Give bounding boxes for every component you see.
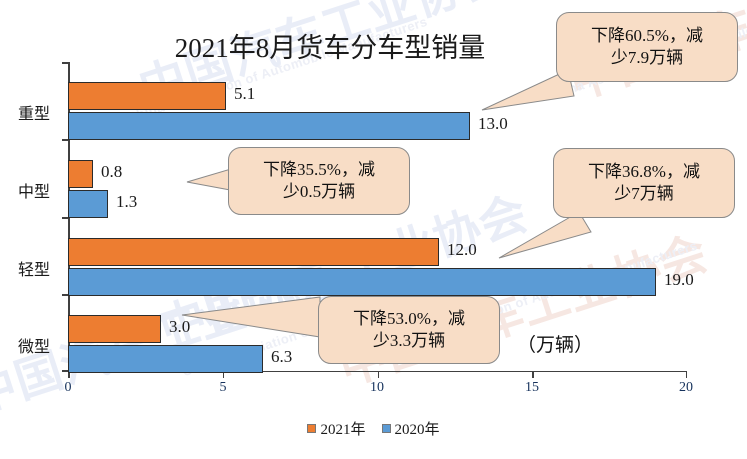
- bar-value-2020-medium: 1.3: [116, 192, 137, 212]
- y-axis-category-label: 轻型: [6, 256, 62, 280]
- y-axis-category-label: 微型: [6, 333, 62, 357]
- callout-tail-icon: [495, 210, 605, 265]
- bar-value-2020-mini: 6.3: [271, 347, 292, 367]
- x-axis-tick: [378, 372, 380, 378]
- x-axis-tick: [532, 372, 534, 378]
- legend-item-2020[interactable]: 2020年: [382, 418, 440, 439]
- x-axis-tick-label: 10: [370, 380, 384, 396]
- legend-swatch-icon: [307, 424, 316, 433]
- callout-tail-icon: [180, 295, 340, 350]
- legend: 2021年 2020年: [0, 418, 747, 439]
- legend-item-2021[interactable]: 2021年: [307, 418, 365, 439]
- x-axis-tick-label: 20: [679, 380, 693, 396]
- bar-value-2021-light: 12.0: [447, 240, 477, 260]
- annotation-light-line2: 少7万辆: [614, 184, 674, 203]
- annotation-box-mini[interactable]: 下降53.0%，减 少3.3万辆: [318, 296, 500, 364]
- bar-2021-heavy[interactable]: [68, 82, 226, 110]
- legend-label-2020: 2020年: [395, 418, 440, 439]
- annotation-mini-line1: 下降53.0%，减: [353, 309, 465, 328]
- y-axis-category-label: 中型: [6, 178, 62, 202]
- bar-2020-medium[interactable]: [68, 190, 108, 218]
- x-axis-tick-label: 0: [65, 380, 72, 396]
- bar-value-2020-light: 19.0: [664, 270, 694, 290]
- annotation-medium-line2: 少0.5万辆: [283, 182, 355, 201]
- legend-label-2021: 2021年: [320, 418, 365, 439]
- axis-unit-label: （万辆）: [517, 330, 593, 357]
- annotation-heavy-line2: 少7.9万辆: [611, 48, 683, 67]
- x-axis-tick-label: 15: [525, 380, 539, 396]
- y-axis-category-label: 重型: [6, 100, 62, 124]
- bar-2021-light[interactable]: [68, 238, 439, 266]
- legend-swatch-icon: [382, 424, 391, 433]
- annotation-light-line1: 下降36.8%，减: [588, 162, 700, 181]
- chart-container: 中国汽车工业协会 中国汽车工业协会 中国汽车工业协会 中国汽车工业协会 Chin…: [0, 0, 747, 459]
- annotation-heavy-line1: 下降60.5%，减: [591, 26, 703, 45]
- annotation-box-light[interactable]: 下降36.8%，减 少7万辆: [553, 148, 735, 218]
- annotation-medium-line1: 下降35.5%，减: [263, 160, 375, 179]
- x-axis-tick: [686, 372, 688, 378]
- annotation-box-heavy[interactable]: 下降60.5%，减 少7.9万辆: [556, 12, 738, 82]
- bar-value-2021-medium: 0.8: [101, 162, 122, 182]
- annotation-mini-line2: 少3.3万辆: [373, 331, 445, 350]
- bar-2020-heavy[interactable]: [68, 112, 470, 140]
- x-axis-tick-label: 5: [220, 380, 227, 396]
- bar-2020-light[interactable]: [68, 268, 656, 296]
- bar-2021-medium[interactable]: [68, 160, 93, 188]
- bar-2021-mini[interactable]: [68, 315, 161, 343]
- bar-value-2021-heavy: 5.1: [234, 84, 255, 104]
- annotation-box-medium[interactable]: 下降35.5%，减 少0.5万辆: [228, 147, 410, 215]
